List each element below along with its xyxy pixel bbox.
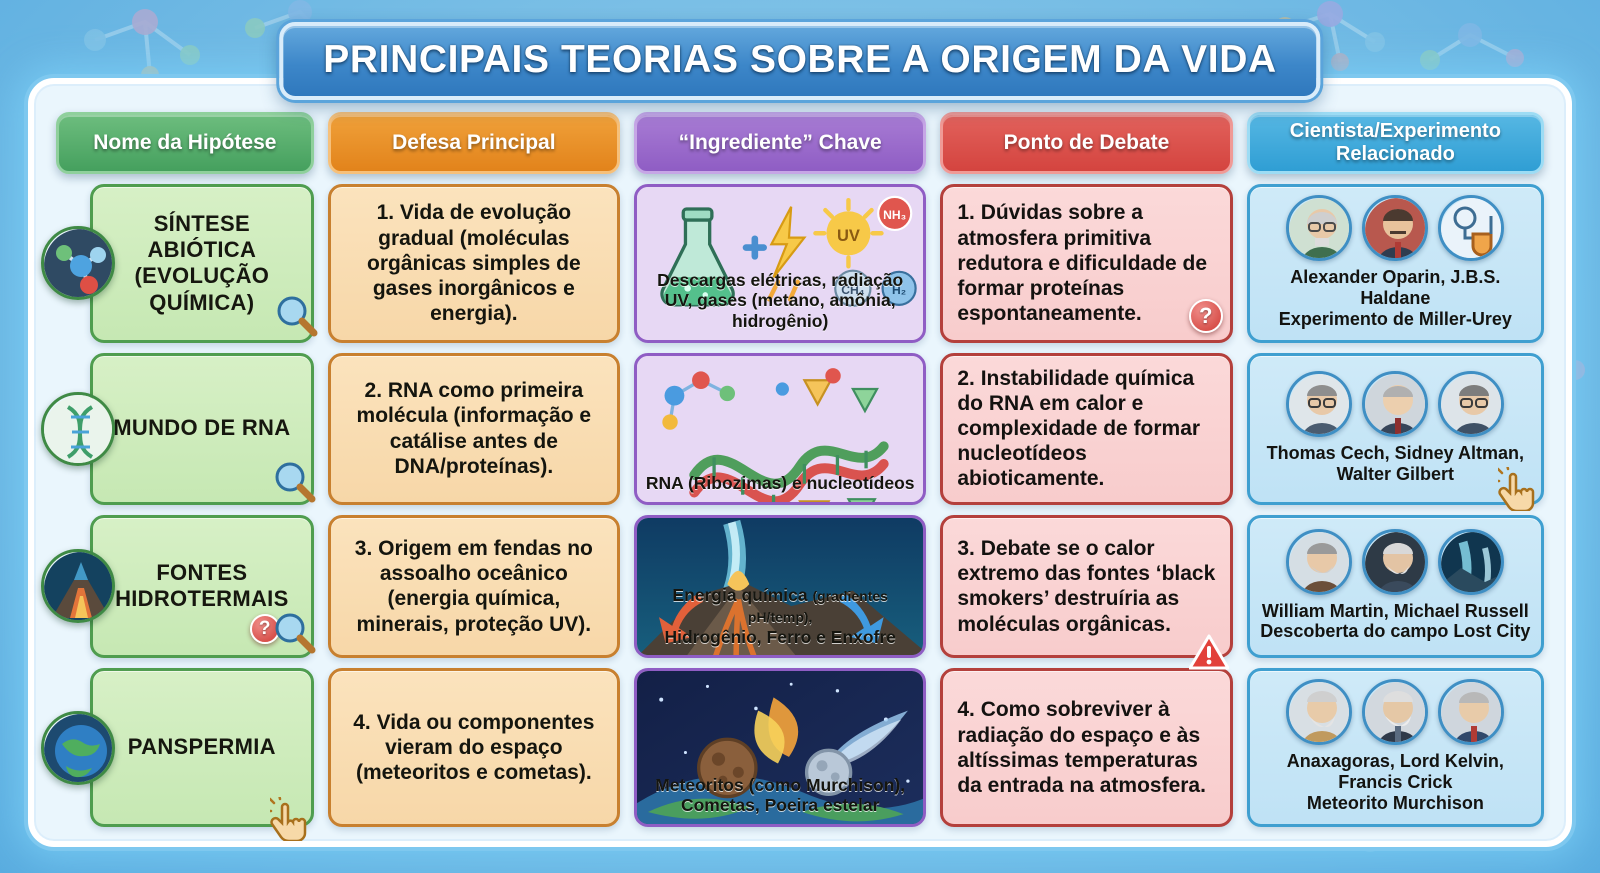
scientist-avatars [1286, 679, 1504, 745]
infographic-board: Nome da Hipótese Defesa Principal “Ingre… [28, 78, 1572, 847]
table-row: PANSPERMIA [56, 668, 314, 827]
ingredient-caption-3: Energia química (gradientes pH/temp), Hi… [637, 579, 923, 655]
scientist-label: Anaxagoras, Lord Kelvin, Francis Crick M… [1258, 751, 1533, 814]
avatar [1438, 679, 1504, 745]
svg-text:UV: UV [837, 227, 860, 245]
ingredient-card-3[interactable]: Energia química (gradientes pH/temp), Hi… [634, 515, 926, 659]
avatar [1362, 679, 1428, 745]
ingredient-caption-2: RNA (Ribozimas) e nucleotídeos [637, 467, 923, 502]
table-cell: Anaxagoras, Lord Kelvin, Francis Crick M… [1247, 668, 1544, 827]
hypothesis-label: FONTES HIDROTERMAIS [103, 560, 301, 613]
scientist-avatars [1286, 529, 1504, 595]
table-cell: 2. Instabilidade química do RNA em calor… [940, 353, 1232, 505]
debate-card-4[interactable]: 4. Como sobreviver à radiação do espaço … [940, 668, 1232, 827]
table-row: MUNDO DE RNA [56, 353, 314, 505]
hypothesis-card-3[interactable]: FONTES HIDROTERMAIS [90, 515, 314, 659]
table-cell: 2. RNA como primeira molécula (informaçã… [328, 353, 620, 505]
avatar [1438, 371, 1504, 437]
table-cell: 3. Origem em fendas no assoalho oceânico… [328, 515, 620, 659]
table-cell: Thomas Cech, Sidney Altman, Walter Gilbe… [1247, 353, 1544, 505]
hypothesis-card-4[interactable]: PANSPERMIA [90, 668, 314, 827]
title-plate: PRINCIPAIS TEORIAS SOBRE A ORIGEM DA VID… [279, 22, 1320, 100]
hypothesis-label: MUNDO DE RNA [113, 415, 290, 441]
table-cell: 4. Vida ou componentes vieram do espaço … [328, 668, 620, 827]
avatar [1362, 371, 1428, 437]
svg-text:NH₃: NH₃ [883, 208, 906, 222]
molecule-icon [41, 226, 115, 300]
ingredient-card-2[interactable]: RNA (Ribozimas) e nucleotídeos [634, 353, 926, 505]
scientist-avatars [1286, 371, 1504, 437]
table-cell: Alexander Oparin, J.B.S. Haldane Experim… [1247, 184, 1544, 343]
title-banner: PRINCIPAIS TEORIAS SOBRE A ORIGEM DA VID… [279, 22, 1320, 100]
earth-globe-icon [41, 711, 115, 785]
column-header-hypothesis: Nome da Hipótese [56, 112, 314, 174]
scientist-card-1[interactable]: Alexander Oparin, J.B.S. Haldane Experim… [1247, 184, 1544, 343]
apparatus-icon [1438, 195, 1504, 261]
scientist-card-2[interactable]: Thomas Cech, Sidney Altman, Walter Gilbe… [1247, 353, 1544, 505]
defense-card-1[interactable]: 1. Vida de evolução gradual (moléculas o… [328, 184, 620, 343]
avatar [1286, 679, 1352, 745]
scientist-label: Thomas Cech, Sidney Altman, Walter Gilbe… [1258, 443, 1533, 485]
scientist-card-4[interactable]: Anaxagoras, Lord Kelvin, Francis Crick M… [1247, 668, 1544, 827]
avatar [1362, 195, 1428, 261]
ingredient-caption-1: Descargas elétricas, radiação UV, gases … [637, 264, 923, 340]
table-cell: 1. Vida de evolução gradual (moléculas o… [328, 184, 620, 343]
debate-card-1[interactable]: 1. Dúvidas sobre a atmosfera primitiva r… [940, 184, 1232, 343]
scientist-avatars [1286, 195, 1504, 261]
column-header-ingredient: “Ingrediente” Chave [634, 112, 926, 174]
table-row: FONTES HIDROTERMAIS ? [56, 515, 314, 659]
scientist-label: Alexander Oparin, J.B.S. Haldane Experim… [1258, 267, 1533, 330]
avatar [1362, 529, 1428, 595]
ingredient-caption-line2: Hidrogênio, Ferro e Enxofre [664, 627, 895, 647]
hypothesis-label: PANSPERMIA [128, 734, 276, 760]
scientist-label: William Martin, Michael Russell Descober… [1260, 601, 1530, 643]
ingredient-caption-main: Energia química [672, 585, 807, 605]
column-header-scientist: Cientista/Experimento Relacionado [1247, 112, 1544, 174]
table-cell: 3. Debate se o calor extremo das fontes … [940, 515, 1232, 659]
table-row: SÍNTESE ABIÓTICA (EVOLUÇÃO QUÍMICA) [56, 184, 314, 343]
page-title: PRINCIPAIS TEORIAS SOBRE A ORIGEM DA VID… [323, 38, 1276, 82]
avatar [1286, 529, 1352, 595]
table-cell: 4. Como sobreviver à radiação do espaço … [940, 668, 1232, 827]
dna-helix-icon [41, 392, 115, 466]
avatar [1286, 195, 1352, 261]
defense-card-2[interactable]: 2. RNA como primeira molécula (informaçã… [328, 353, 620, 505]
table-cell: RNA (Ribozimas) e nucleotídeos [634, 353, 926, 505]
hypothesis-card-1[interactable]: SÍNTESE ABIÓTICA (EVOLUÇÃO QUÍMICA) [90, 184, 314, 343]
scientist-card-3[interactable]: William Martin, Michael Russell Descober… [1247, 515, 1544, 659]
column-header-debate: Ponto de Debate [940, 112, 1232, 174]
hypothesis-label: SÍNTESE ABIÓTICA (EVOLUÇÃO QUÍMICA) [103, 211, 301, 317]
ingredient-card-4[interactable]: Meteoritos (como Murchison), Cometas, Po… [634, 668, 926, 827]
column-header-defense: Defesa Principal [328, 112, 620, 174]
ingredient-card-1[interactable]: UV NH₃ CH₄ H₂ Descargas elétricas, radia… [634, 184, 926, 343]
table-cell: Meteoritos (como Murchison), Cometas, Po… [634, 668, 926, 827]
table-cell: Energia química (gradientes pH/temp), Hi… [634, 515, 926, 659]
hydrothermal-vent-icon [41, 549, 115, 623]
comparison-table: Nome da Hipótese Defesa Principal “Ingre… [56, 112, 1544, 827]
defense-card-4[interactable]: 4. Vida ou componentes vieram do espaço … [328, 668, 620, 827]
table-cell: UV NH₃ CH₄ H₂ Descargas elétricas, radia… [634, 184, 926, 343]
table-cell: William Martin, Michael Russell Descober… [1247, 515, 1544, 659]
avatar [1286, 371, 1352, 437]
table-cell: 1. Dúvidas sobre a atmosfera primitiva r… [940, 184, 1232, 343]
debate-card-3[interactable]: 3. Debate se o calor extremo das fontes … [940, 515, 1232, 659]
debate-card-2[interactable]: 2. Instabilidade química do RNA em calor… [940, 353, 1232, 505]
vent-photo-icon [1438, 529, 1504, 595]
hypothesis-card-2[interactable]: MUNDO DE RNA [90, 353, 314, 505]
ingredient-caption-4: Meteoritos (como Murchison), Cometas, Po… [637, 769, 923, 824]
defense-card-3[interactable]: 3. Origem em fendas no assoalho oceânico… [328, 515, 620, 659]
